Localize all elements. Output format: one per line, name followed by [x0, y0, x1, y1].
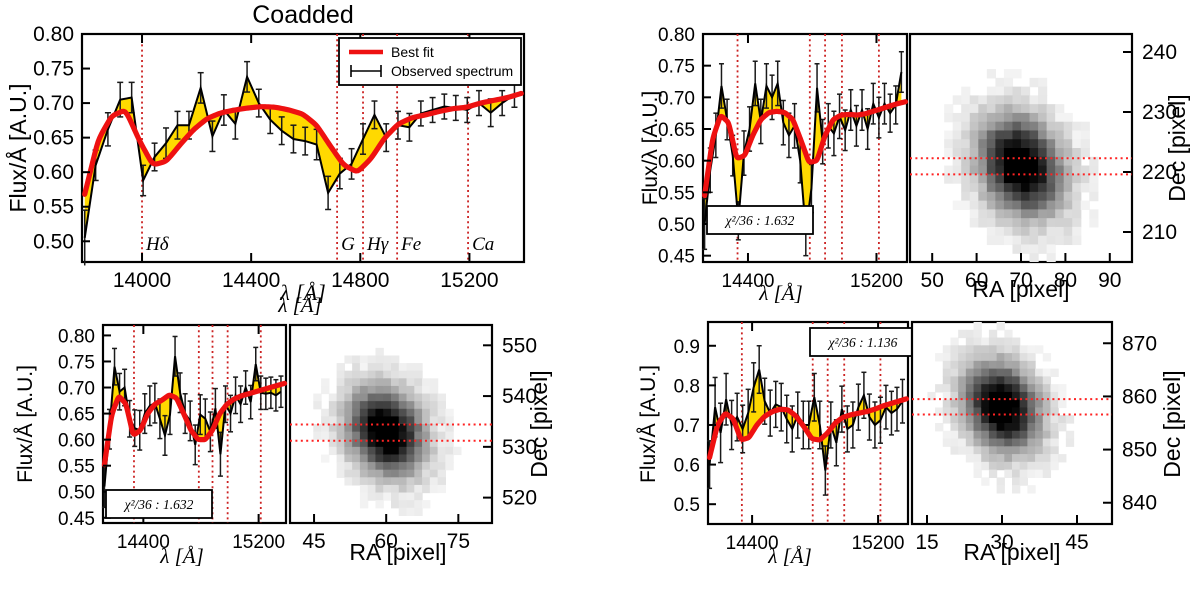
- stamp-pixel: [407, 409, 415, 417]
- stamp-pixel: [453, 447, 461, 455]
- stamp-pixel: [981, 369, 989, 377]
- stamp-pixel: [1043, 470, 1051, 478]
- stamp-pixel: [438, 454, 446, 462]
- stamp-pixel: [974, 330, 982, 338]
- y-tick-label: 0.80: [58, 326, 95, 347]
- stamp-pixel: [1020, 369, 1028, 377]
- stamp-pixel: [987, 95, 996, 104]
- stamp-pixel: [438, 416, 446, 424]
- stamp-pixel: [1012, 376, 1020, 384]
- stamp-pixel: [337, 371, 345, 379]
- stamp-pixel: [1064, 218, 1073, 227]
- stamp-pixel: [970, 201, 979, 210]
- stamp-pixel: [329, 394, 337, 402]
- stamp-pixel: [1020, 384, 1028, 392]
- stamp-pixel: [958, 376, 966, 384]
- stamp-x-tick-label: 90: [1098, 269, 1121, 292]
- stamp-pixel: [997, 400, 1005, 408]
- stamp-pixel: [1072, 174, 1081, 183]
- stamp-x-tick-label: 50: [921, 269, 944, 292]
- stamp-pixel: [407, 371, 415, 379]
- stamp-pixel: [337, 432, 345, 440]
- stamp-pixel: [995, 183, 1004, 192]
- stamp-pixel: [1012, 345, 1020, 353]
- stamp-pixel: [383, 386, 391, 394]
- y-tick-label: 0.45: [58, 509, 95, 530]
- stamp-pixel: [970, 174, 979, 183]
- stamp-pixel: [360, 409, 368, 417]
- stamp-pixel: [1030, 78, 1039, 87]
- stamp-pixel: [935, 423, 943, 431]
- stamp-pixel: [1027, 423, 1035, 431]
- obj3-chi2-box: χ²/36 : 1.136: [810, 328, 916, 356]
- stamp-pixel: [1035, 454, 1043, 462]
- stamp-pixel: [974, 369, 982, 377]
- stamp-pixel: [944, 113, 953, 122]
- stamp-pixel: [1021, 227, 1030, 236]
- stamp-pixel: [943, 415, 951, 423]
- stamp-pixel: [1055, 104, 1064, 113]
- stamp-pixel: [1038, 192, 1047, 201]
- stamp-pixel: [995, 130, 1004, 139]
- stamp-pixel: [970, 122, 979, 131]
- stamp-y-tick-label: 210: [1142, 221, 1177, 244]
- stamp-pixel: [935, 353, 943, 361]
- stamp-pixel: [987, 139, 996, 148]
- stamp-pixel: [445, 447, 453, 455]
- stamp-pixel: [970, 218, 979, 227]
- stamp-pixel: [430, 401, 438, 409]
- stamp-pixel: [407, 432, 415, 440]
- stamp-pixel: [1064, 183, 1073, 192]
- stamp-pixel: [1027, 376, 1035, 384]
- stamp-pixel: [1004, 78, 1013, 87]
- stamp-pixel: [1021, 236, 1030, 245]
- obj2-top-lambda-label: λ [Å]: [277, 293, 322, 317]
- stamp-pixel: [352, 454, 360, 462]
- stamp-pixel: [344, 378, 352, 386]
- stamp-pixel: [414, 378, 422, 386]
- stamp-pixel: [407, 508, 415, 516]
- obj1-y-axis-label: Flux/λ [A.U.]: [639, 91, 662, 205]
- stamp-pixel: [987, 87, 996, 96]
- stamp-pixel: [1020, 423, 1028, 431]
- stamp-pixel: [978, 122, 987, 131]
- stamp-pixel: [1047, 174, 1056, 183]
- stamp-pixel: [966, 446, 974, 454]
- stamp-pixel: [1064, 113, 1073, 122]
- stamp-pixel: [995, 236, 1004, 245]
- stamp-pixel: [970, 113, 979, 122]
- stamp-pixel: [1004, 113, 1013, 122]
- stamp-pixel: [1035, 431, 1043, 439]
- stamp-pixel: [997, 392, 1005, 400]
- y-tick-label: 0.75: [658, 57, 695, 78]
- stamp-pixel: [989, 345, 997, 353]
- stamp-pixel: [1035, 423, 1043, 431]
- stamp-pixel: [368, 363, 376, 371]
- stamp-pixel: [1072, 227, 1081, 236]
- stamp-pixel: [1004, 369, 1012, 377]
- stamp-pixel: [399, 485, 407, 493]
- stamp-pixel: [997, 384, 1005, 392]
- stamp-pixel: [368, 371, 376, 379]
- stamp-pixel: [989, 353, 997, 361]
- stamp-pixel: [337, 409, 345, 417]
- stamp-pixel: [1021, 244, 1030, 253]
- stamp-pixel: [989, 462, 997, 470]
- stamp-pixel: [383, 401, 391, 409]
- stamp-pixel: [368, 454, 376, 462]
- stamp-pixel: [953, 201, 962, 210]
- stamp-pixel: [1012, 477, 1020, 485]
- stamp-pixel: [352, 401, 360, 409]
- stamp-pixel: [375, 386, 383, 394]
- stamp-pixel: [1004, 183, 1013, 192]
- stamp-pixel: [1038, 113, 1047, 122]
- stamp-pixel: [958, 400, 966, 408]
- stamp-pixel: [958, 439, 966, 447]
- stamp-pixel: [966, 431, 974, 439]
- stamp-pixel: [995, 104, 1004, 113]
- stamp-pixel: [1064, 209, 1073, 218]
- stamp-pixel: [337, 447, 345, 455]
- stamp-pixel: [352, 355, 360, 363]
- stamp-pixel: [1081, 174, 1090, 183]
- stamp-y-tick-label: 850: [1122, 439, 1157, 462]
- stamp-pixel: [1030, 113, 1039, 122]
- stamp-pixel: [1012, 192, 1021, 201]
- stamp-pixel: [383, 470, 391, 478]
- stamp-pixel: [399, 401, 407, 409]
- stamp-pixel: [974, 353, 982, 361]
- stamp-pixel: [981, 431, 989, 439]
- stamp-pixel: [1047, 113, 1056, 122]
- stamp-pixel: [1072, 209, 1081, 218]
- stamp-pixel: [1081, 148, 1090, 157]
- stamp-pixel: [1043, 392, 1051, 400]
- stamp-pixel: [1035, 446, 1043, 454]
- stamp-pixel: [368, 386, 376, 394]
- stamp-pixel: [1035, 439, 1043, 447]
- stamp-pixel: [1081, 122, 1090, 131]
- stamp-pixel: [961, 113, 970, 122]
- stamp-pixel: [950, 353, 958, 361]
- y-tick-label: 0.7: [674, 416, 700, 437]
- stamp-pixel: [958, 431, 966, 439]
- stamp-pixel: [989, 454, 997, 462]
- stamp-pixel: [953, 130, 962, 139]
- stamp-pixel: [966, 439, 974, 447]
- stamp-pixel: [1055, 174, 1064, 183]
- obj2-y-axis-label: Flux/Å [A.U.]: [14, 365, 37, 483]
- stamp-pixel: [1072, 192, 1081, 201]
- stamp-pixel: [974, 423, 982, 431]
- stamp-pixel: [422, 477, 430, 485]
- stamp-pixel: [375, 462, 383, 470]
- stamp-pixel: [360, 401, 368, 409]
- stamp-pixel: [383, 462, 391, 470]
- stamp-pixel: [430, 416, 438, 424]
- stamp-pixel: [321, 416, 329, 424]
- y-tick-label: 0.65: [58, 405, 95, 426]
- stamp-pixel: [981, 400, 989, 408]
- stamp-pixel: [399, 416, 407, 424]
- stamp-pixel: [422, 500, 430, 508]
- stamp-pixel: [399, 447, 407, 455]
- stamp-pixel: [422, 432, 430, 440]
- stamp-pixel: [1004, 361, 1012, 369]
- stamp-pixel: [1012, 148, 1021, 157]
- stamp-pixel: [344, 462, 352, 470]
- y-tick-label: 0.70: [658, 88, 695, 109]
- stamp-pixel: [1050, 369, 1058, 377]
- stamp-pixel: [422, 470, 430, 478]
- stamp-pixel: [1004, 431, 1012, 439]
- stamp-pixel: [1030, 166, 1039, 175]
- stamp-pixel: [360, 477, 368, 485]
- stamp-pixel: [944, 148, 953, 157]
- stamp-pixel: [445, 416, 453, 424]
- stamp-pixel: [995, 113, 1004, 122]
- stamp-pixel: [391, 470, 399, 478]
- stamp-pixel: [974, 462, 982, 470]
- stamp-pixel: [966, 361, 974, 369]
- stamp-pixel: [375, 500, 383, 508]
- stamp-pixel: [1047, 192, 1056, 201]
- stamp-pixel: [1027, 462, 1035, 470]
- stamp-pixel: [1004, 104, 1013, 113]
- stamp-pixel: [1058, 400, 1066, 408]
- stamp-pixel: [352, 378, 360, 386]
- stamp-pixel: [1027, 485, 1035, 493]
- x-tick-label: 15200: [850, 271, 903, 292]
- stamp-pixel: [1055, 122, 1064, 131]
- x-tick-label: 14000: [113, 269, 171, 292]
- stamp-pixel: [337, 386, 345, 394]
- stamp-pixel: [1081, 139, 1090, 148]
- stamp-pixel: [987, 69, 996, 78]
- stamp-pixel: [1012, 139, 1021, 148]
- stamp-pixel: [997, 345, 1005, 353]
- stamp-pixel: [1030, 209, 1039, 218]
- stamp-pixel: [1021, 104, 1030, 113]
- stamp-pixel: [344, 371, 352, 379]
- stamp-pixel: [1081, 201, 1090, 210]
- stamp-pixel: [1047, 218, 1056, 227]
- stamp-pixel: [1038, 78, 1047, 87]
- stamp-pixel: [1055, 201, 1064, 210]
- stamp-pixel: [943, 353, 951, 361]
- stamp-pixel: [1021, 95, 1030, 104]
- stamp-pixel: [997, 446, 1005, 454]
- stamp-pixel: [391, 462, 399, 470]
- stamp-pixel: [958, 415, 966, 423]
- stamp-pixel: [399, 508, 407, 516]
- stamp-pixel: [391, 416, 399, 424]
- stamp-pixel: [375, 355, 383, 363]
- stamp-pixel: [970, 104, 979, 113]
- y-tick-label: 0.55: [58, 457, 95, 478]
- stamp-pixel: [950, 369, 958, 377]
- stamp-pixel: [987, 104, 996, 113]
- stamp-pixel: [961, 87, 970, 96]
- stamp-pixel: [997, 369, 1005, 377]
- stamp-pixel: [974, 439, 982, 447]
- stamp-pixel: [950, 400, 958, 408]
- stamp-pixel: [1064, 139, 1073, 148]
- stamp-pixel: [383, 454, 391, 462]
- stamp-pixel: [1012, 384, 1020, 392]
- stamp-pixel: [1030, 95, 1039, 104]
- stamp-pixel: [1050, 400, 1058, 408]
- obj3-ra-axis-label: RA [pixel]: [963, 539, 1060, 565]
- stamp-pixel: [1012, 470, 1020, 478]
- stamp-pixel: [414, 416, 422, 424]
- stamp-pixel: [407, 363, 415, 371]
- stamp-pixel: [375, 447, 383, 455]
- stamp-pixel: [375, 409, 383, 417]
- stamp-pixel: [970, 183, 979, 192]
- stamp-pixel: [414, 477, 422, 485]
- stamp-pixel: [1004, 462, 1012, 470]
- stamp-pixel: [422, 447, 430, 455]
- stamp-pixel: [1072, 183, 1081, 192]
- stamp-pixel: [337, 462, 345, 470]
- stamp-pixel: [1021, 139, 1030, 148]
- stamp-pixel: [391, 447, 399, 455]
- stamp-pixel: [368, 477, 376, 485]
- stamp-pixel: [943, 431, 951, 439]
- stamp-pixel: [360, 500, 368, 508]
- stamp-pixel: [1050, 431, 1058, 439]
- stamp-pixel: [329, 401, 337, 409]
- stamp-pixel: [1047, 253, 1056, 262]
- stamp-pixel: [950, 376, 958, 384]
- stamp-pixel: [1038, 201, 1047, 210]
- stamp-pixel: [1072, 130, 1081, 139]
- stamp-pixel: [1012, 130, 1021, 139]
- stamp-pixel: [375, 432, 383, 440]
- stamp-x-tick-label: 45: [302, 530, 325, 553]
- stamp-pixel: [337, 416, 345, 424]
- stamp-pixel: [360, 454, 368, 462]
- stamp-pixel: [995, 192, 1004, 201]
- stamp-pixel: [958, 353, 966, 361]
- stamp-pixel: [1020, 446, 1028, 454]
- stamp-pixel: [391, 493, 399, 501]
- stamp-pixel: [414, 371, 422, 379]
- stamp-pixel: [1038, 122, 1047, 131]
- stamp-pixel: [1004, 345, 1012, 353]
- stamp-pixel: [981, 415, 989, 423]
- stamp-pixel: [978, 174, 987, 183]
- stamp-pixel: [970, 139, 979, 148]
- y-tick-label: 0.65: [658, 120, 695, 141]
- stamp-pixel: [978, 113, 987, 122]
- stamp-pixel: [1021, 157, 1030, 166]
- stamp-pixel: [1055, 183, 1064, 192]
- stamp-pixel: [344, 477, 352, 485]
- stamp-pixel: [958, 330, 966, 338]
- stamp-pixel: [1021, 209, 1030, 218]
- stamp-pixel: [414, 394, 422, 402]
- stamp-pixel: [961, 201, 970, 210]
- stamp-pixel: [943, 439, 951, 447]
- stamp-pixel: [360, 378, 368, 386]
- stamp-pixel: [399, 470, 407, 478]
- stamp-pixel: [438, 470, 446, 478]
- stamp-pixel: [978, 192, 987, 201]
- stamp-pixel: [391, 500, 399, 508]
- stamp-pixel: [974, 454, 982, 462]
- stamp-pixel: [1055, 209, 1064, 218]
- stamp-pixel: [391, 378, 399, 386]
- y-tick-label: 0.65: [33, 127, 74, 150]
- x-tick-label: 14800: [331, 269, 389, 292]
- stamp-pixel: [329, 447, 337, 455]
- stamp-pixel: [399, 424, 407, 432]
- stamp-y-tick-label: 520: [502, 487, 537, 510]
- stamp-pixel: [1021, 201, 1030, 210]
- stamp-pixel: [1027, 439, 1035, 447]
- y-tick-label: 0.8: [674, 376, 700, 397]
- stamp-pixel: [1038, 174, 1047, 183]
- stamp-pixel: [1035, 369, 1043, 377]
- stamp-pixel: [414, 432, 422, 440]
- stamp-pixel: [966, 400, 974, 408]
- stamp-pixel: [352, 447, 360, 455]
- stamp-pixel: [997, 439, 1005, 447]
- stamp-pixel: [995, 87, 1004, 96]
- stamp-pixel: [422, 416, 430, 424]
- stamp-pixel: [1047, 244, 1056, 253]
- stamp-pixel: [1004, 130, 1013, 139]
- stamp-pixel: [1027, 369, 1035, 377]
- stamp-pixel: [966, 338, 974, 346]
- stamp-pixel: [368, 462, 376, 470]
- y-tick-label: 0.50: [33, 230, 74, 253]
- stamp-y-tick-label: 860: [1122, 385, 1157, 408]
- stamp-pixel: [344, 447, 352, 455]
- stamp-pixel: [344, 454, 352, 462]
- stamp-pixel: [989, 431, 997, 439]
- stamp-pixel: [1021, 130, 1030, 139]
- stamp-pixel: [1012, 361, 1020, 369]
- stamp-pixel: [1066, 415, 1074, 423]
- stamp-pixel: [1027, 470, 1035, 478]
- stamp-pixel: [981, 462, 989, 470]
- stamp-pixel: [1035, 384, 1043, 392]
- stamp-pixel: [970, 209, 979, 218]
- obj1-ra-axis-label: RA [pixel]: [972, 276, 1069, 302]
- stamp-pixel: [375, 378, 383, 386]
- stamp-pixel: [1004, 174, 1013, 183]
- y-tick-label: 0.5: [674, 495, 700, 516]
- stamp-pixel: [360, 493, 368, 501]
- stamp-pixel: [1020, 415, 1028, 423]
- stamp-pixel: [1020, 361, 1028, 369]
- y-tick-label: 0.75: [58, 352, 95, 373]
- stamp-pixel: [1050, 392, 1058, 400]
- stamp-pixel: [1012, 201, 1021, 210]
- stamp-pixel: [1004, 87, 1013, 96]
- stamp-pixel: [368, 416, 376, 424]
- stamp-pixel: [1012, 69, 1021, 78]
- stamp-pixel: [422, 454, 430, 462]
- stamp-pixel: [430, 386, 438, 394]
- stamp-pixel: [1004, 95, 1013, 104]
